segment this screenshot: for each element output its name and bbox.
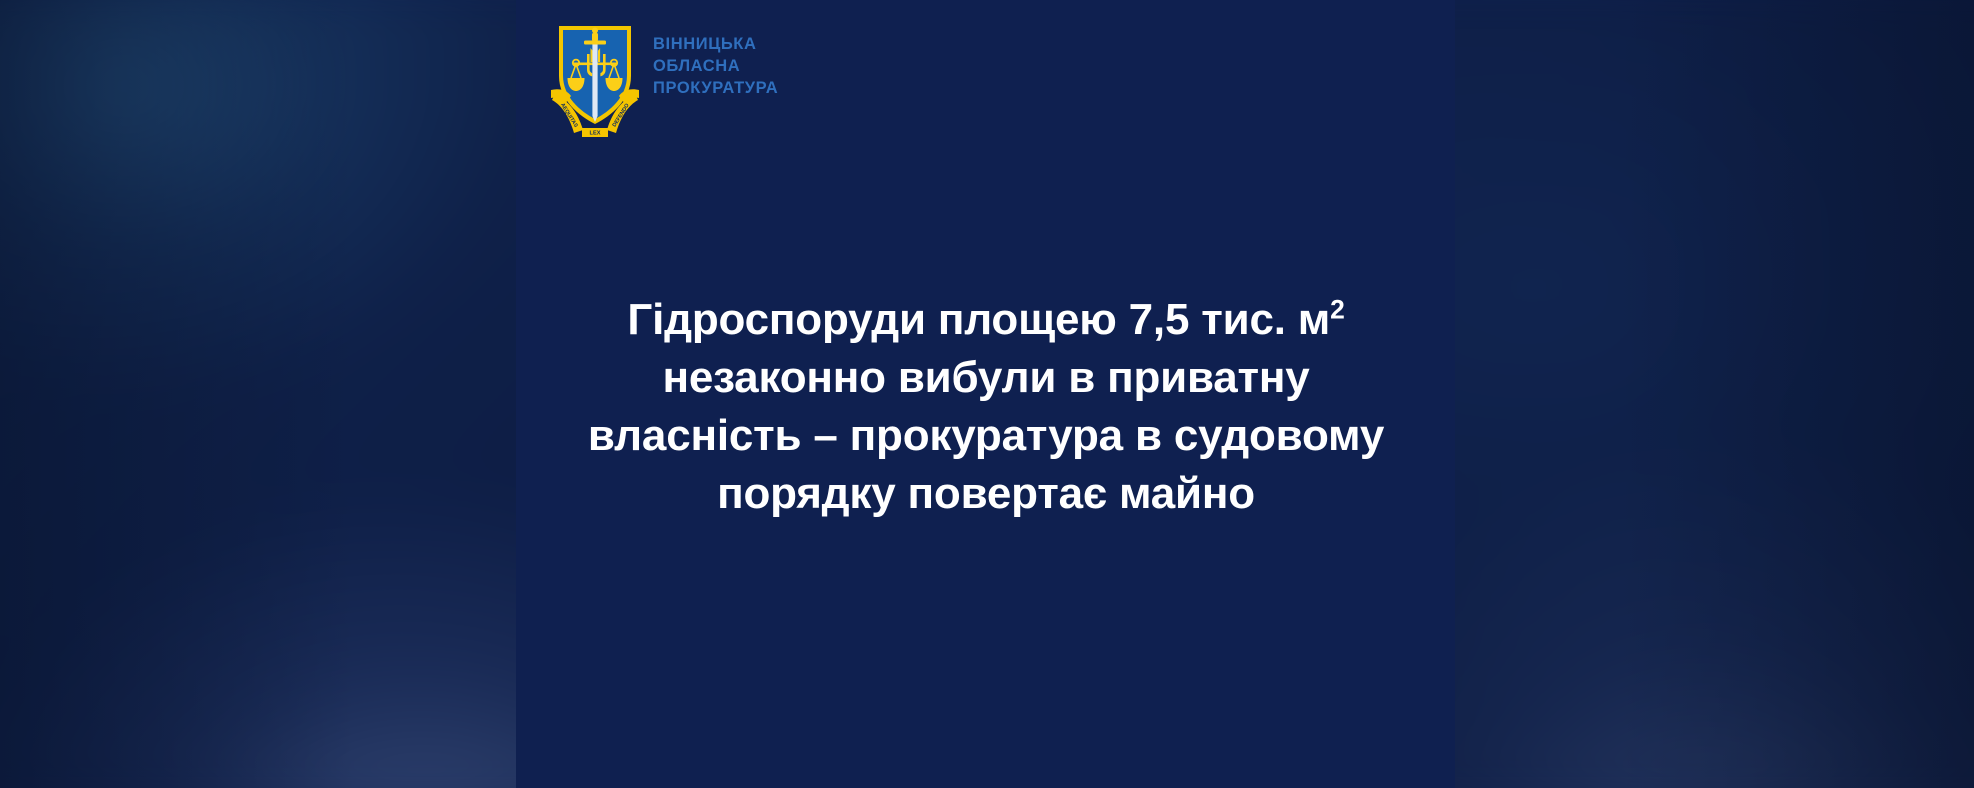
headline-part-after-superscript: незаконно вибули в приватну власність – … [588, 353, 1384, 518]
motto-center: LEX [590, 131, 601, 137]
logo-wordmark-line-2: ОБЛАСНА [653, 56, 778, 78]
logo-wordmark-line-1: ВІННИЦЬКА [653, 34, 778, 56]
logo-lockup[interactable]: AEQUITAS LEX DEFENDO ВІННИЦЬКА ОБЛАСНА П… [549, 18, 778, 138]
news-card-screenshot: AEQUITAS LEX DEFENDO ВІННИЦЬКА ОБЛАСНА П… [0, 0, 1974, 788]
headline-part-before-superscript: Гідроспоруди площею 7,5 тис. м [627, 295, 1330, 344]
square-meters-superscript: 2 [1330, 295, 1344, 325]
logo-wordmark-line-3: ПРОКУРАТУРА [653, 78, 778, 100]
page-title: Гідроспоруди площею 7,5 тис. м2 незаконн… [556, 291, 1416, 523]
logo-wordmark: ВІННИЦЬКА ОБЛАСНА ПРОКУРАТУРА [653, 18, 778, 99]
prosecutor-office-emblem-icon: AEQUITAS LEX DEFENDO [549, 18, 641, 138]
